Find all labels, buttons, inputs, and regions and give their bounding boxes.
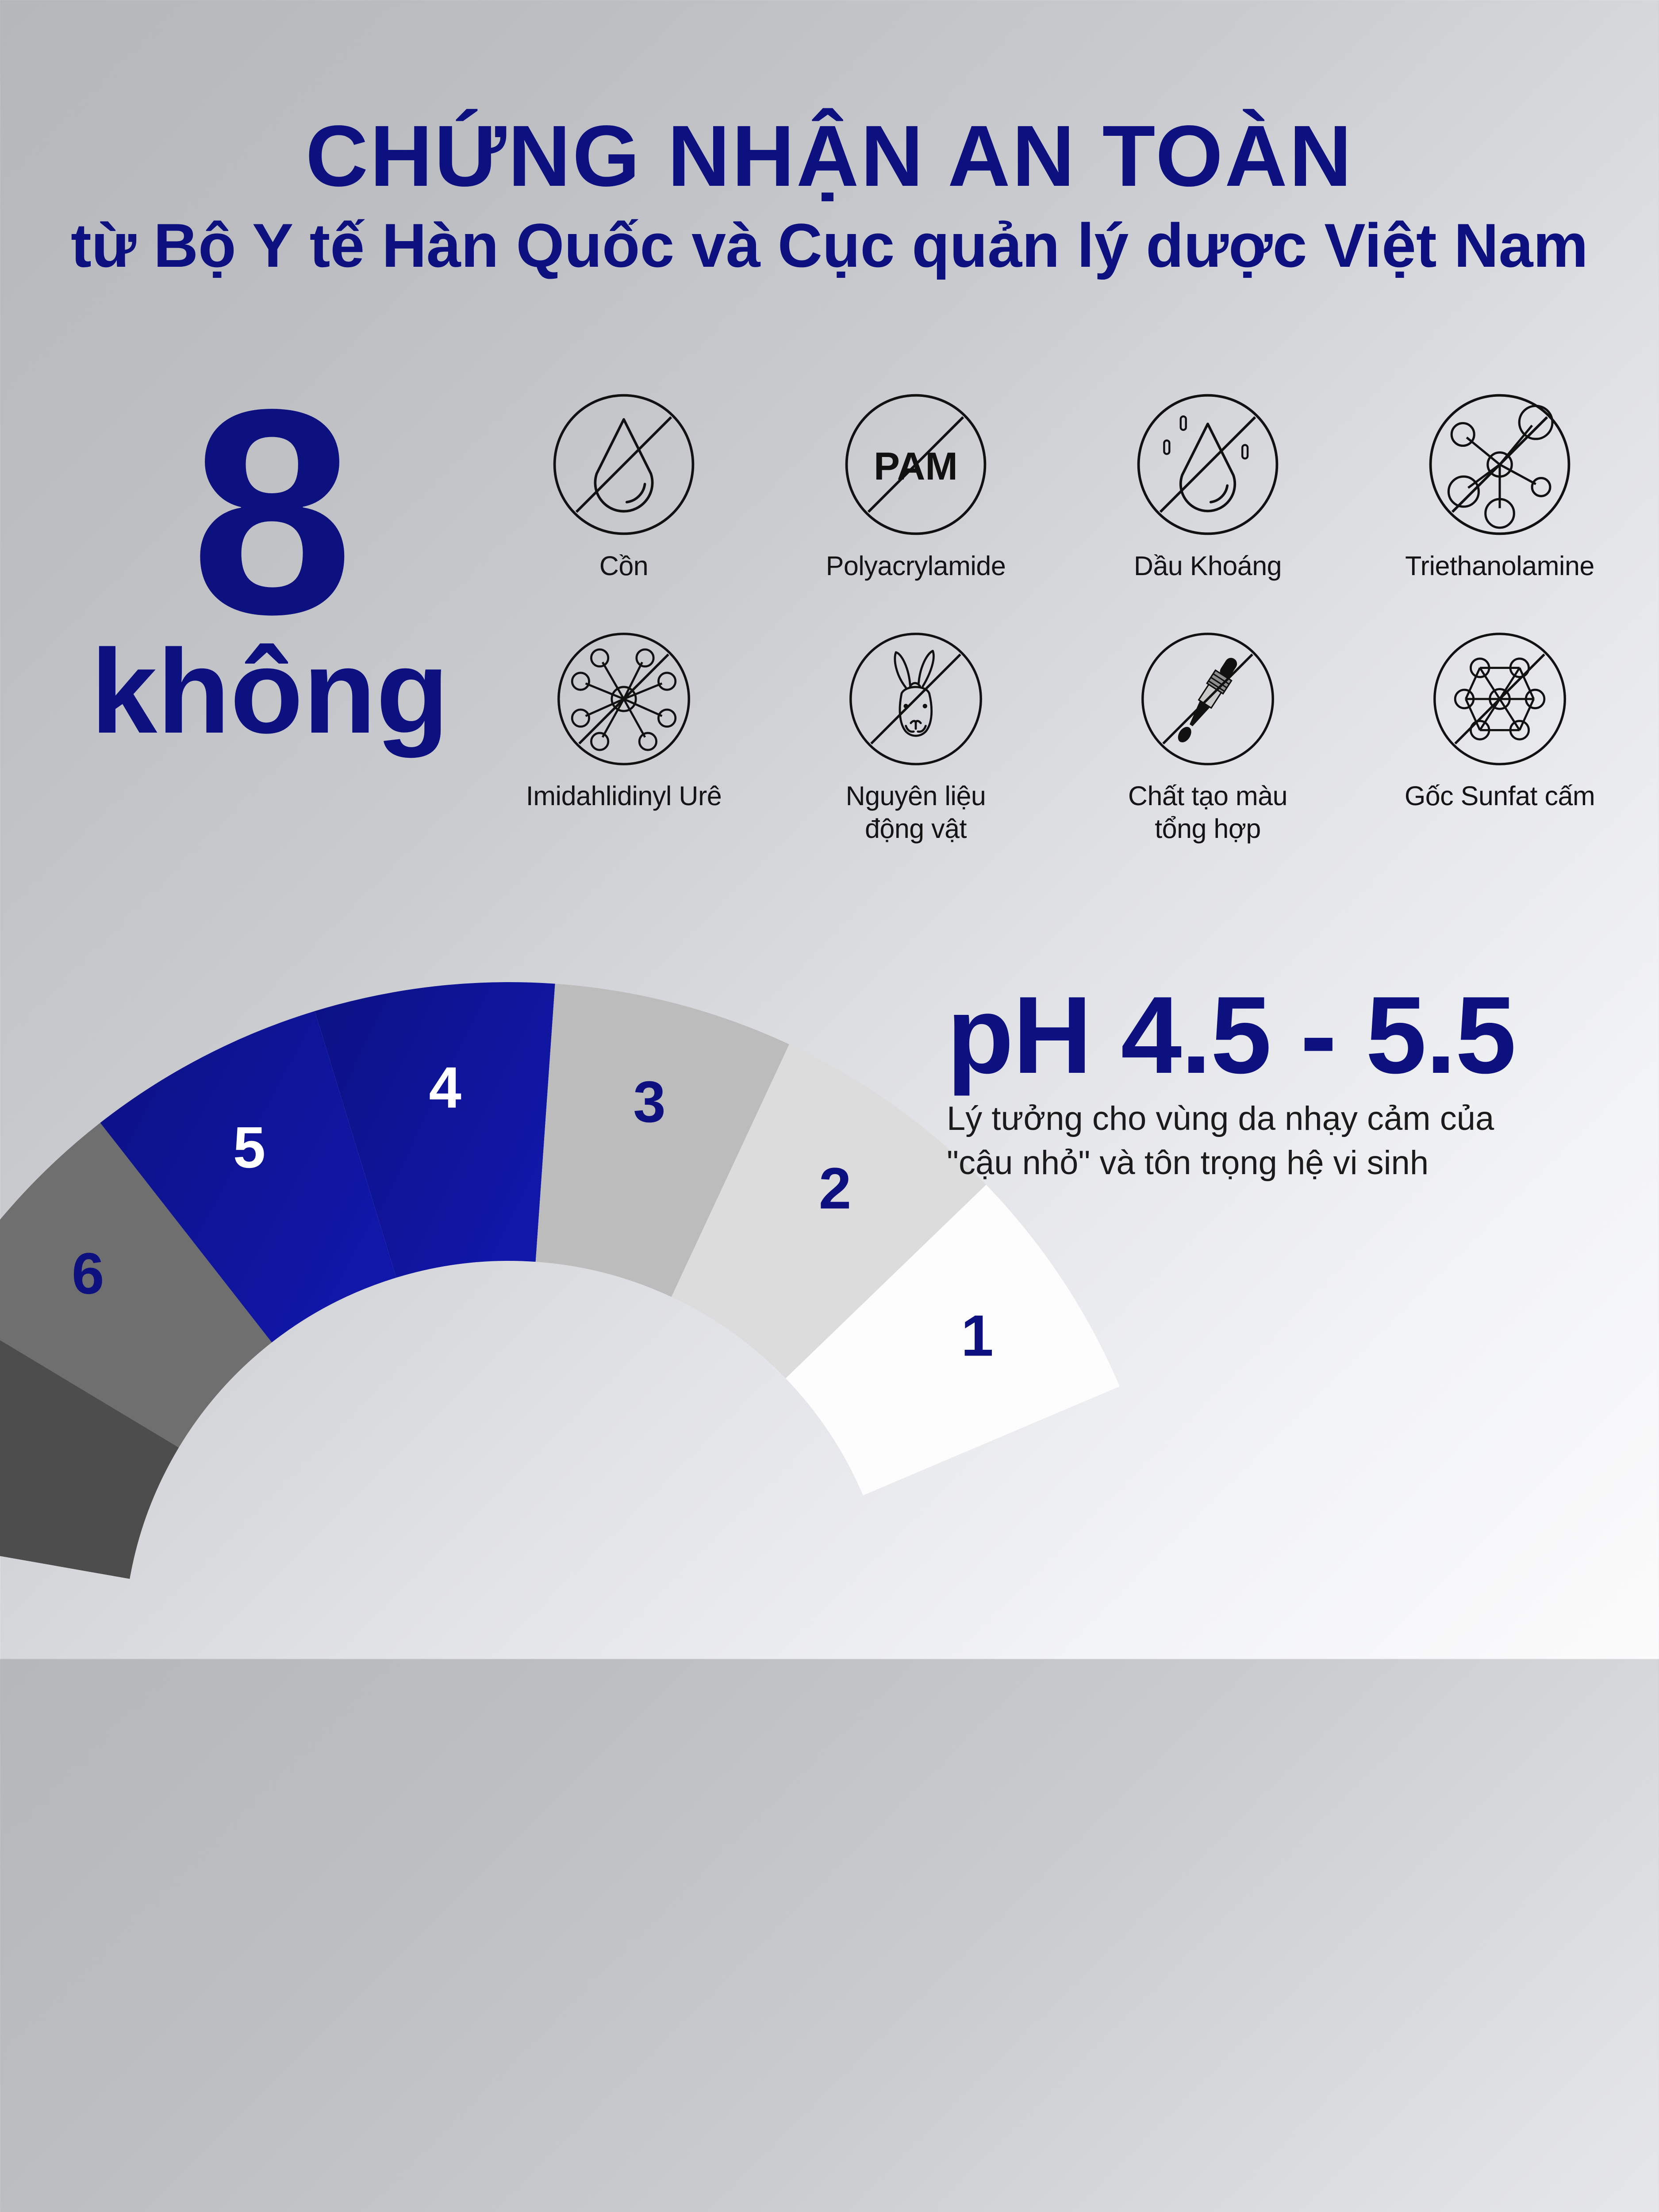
ph-subtext: Lý tưởng cho vùng da nhạy cảm của "cậu n… [947, 1097, 1637, 1186]
free-from-icon-grid: Cồn PAM Polyacrylamide [478, 389, 1646, 867]
free-from-item-imidahlidinyl-ure: Imidahlidinyl Urê [478, 628, 770, 867]
free-from-label-line2: tổng hợp [1128, 812, 1287, 845]
free-from-item-goc-sunfat: Gốc Sunfat cấm [1354, 628, 1646, 867]
free-from-label: Chất tạo màu tổng hợp [1128, 780, 1287, 845]
free-from-count-block: 8 không [58, 398, 482, 752]
free-from-label-line1: Nguyên liệu [846, 780, 986, 812]
ph-segment-label-1: 1 [961, 1303, 993, 1368]
free-from-label-line1: Chất tạo màu [1128, 780, 1287, 812]
no-dropper-pipette-icon [1137, 628, 1279, 770]
free-from-item-polyacrylamide: PAM Polyacrylamide [770, 389, 1062, 628]
page-title: CHỨNG NHẬN AN TOÀN [0, 111, 1659, 202]
free-from-label: Triethanolamine [1405, 549, 1594, 582]
free-from-item-nguyen-lieu-dong-vat: Nguyên liệu động vật [770, 628, 1062, 867]
free-from-label: Dầu Khoáng [1134, 549, 1282, 582]
no-molecule-burst-icon [553, 628, 695, 770]
page-subtitle: từ Bộ Y tế Hàn Quốc và Cục quản lý dược … [0, 210, 1659, 281]
ph-segment-label-6: 6 [72, 1241, 104, 1306]
no-pam-icon: PAM [841, 389, 991, 540]
free-from-item-con: Cồn [478, 389, 770, 628]
ph-segment-label-3: 3 [633, 1069, 665, 1134]
free-from-item-triethanolamine: Triethanolamine [1354, 389, 1646, 628]
ph-headline: pH 4.5 - 5.5 [947, 980, 1637, 1090]
no-hexagon-molecule-icon [1429, 628, 1571, 770]
free-from-label-line2: động vật [846, 812, 986, 845]
free-from-label: Nguyên liệu động vật [846, 780, 986, 845]
ph-segment-label-2: 2 [819, 1156, 851, 1221]
ph-subtext-line2: "cậu nhỏ" và tôn trọng hệ vi sinh [947, 1141, 1637, 1185]
ph-info-block: pH 4.5 - 5.5 Lý tưởng cho vùng da nhạy c… [947, 980, 1637, 1186]
free-from-item-chat-tao-mau: Chất tạo màu tổng hợp [1062, 628, 1354, 867]
no-mineral-oil-droplet-icon [1133, 389, 1283, 540]
no-rabbit-icon [845, 628, 987, 770]
no-droplet-icon [549, 389, 699, 540]
ph-segment-label-4: 4 [429, 1055, 461, 1120]
ph-subtext-line1: Lý tưởng cho vùng da nhạy cảm của [947, 1097, 1637, 1141]
free-from-word: không [58, 632, 482, 752]
free-from-label: Imidahlidinyl Urê [526, 780, 722, 812]
free-from-label: Cồn [599, 549, 648, 582]
free-from-label: Gốc Sunfat cấm [1405, 780, 1595, 812]
ph-segment-label-5: 5 [233, 1115, 265, 1180]
infographic-canvas: CHỨNG NHẬN AN TOÀN từ Bộ Y tế Hàn Quốc v… [0, 0, 1659, 1659]
no-molecule-star-icon [1425, 389, 1575, 540]
header: CHỨNG NHẬN AN TOÀN từ Bộ Y tế Hàn Quốc v… [0, 111, 1659, 281]
free-from-count: 8 [58, 398, 482, 626]
free-from-label: Polyacrylamide [826, 549, 1006, 582]
free-from-item-dau-khoang: Dầu Khoáng [1062, 389, 1354, 628]
